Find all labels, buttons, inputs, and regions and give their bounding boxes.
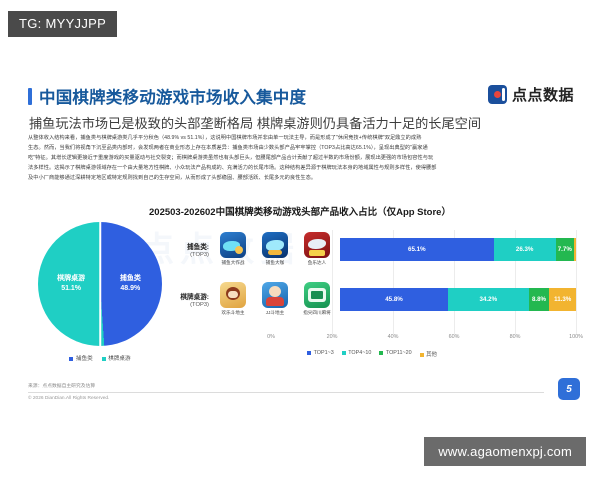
mahjong-game-icon[interactable] <box>304 282 330 308</box>
chart-legend: TOP1~3TOP4~10TOP11~20其他 <box>168 350 576 358</box>
app-icon-group-board: 欢乐斗地主 JJ斗地主 指尖四川麻将 <box>214 282 340 316</box>
gridline <box>576 230 577 334</box>
stacked-bar-board[interactable]: 45.8%34.2%8.8%11.3% <box>340 288 576 311</box>
app-cell[interactable]: 鱼乐达人 <box>300 232 334 266</box>
header-title-row: 中国棋牌类移动游戏市场收入集中度 <box>28 84 481 108</box>
bar-segment[interactable]: 45.8% <box>340 288 448 311</box>
source-note: 来源：点点数据自主研究及估算 <box>28 382 95 389</box>
legend-swatch-icon <box>69 357 73 361</box>
slide-canvas: TG: MYYJJPP 中国棋牌类移动游戏市场收入集中度 捕鱼玩法市场已是极致的… <box>0 0 600 480</box>
row-label-sub: (TOP3) <box>168 302 209 308</box>
fish-game-icon-1[interactable] <box>220 232 246 258</box>
slide-header: 中国棋牌类移动游戏市场收入集中度 捕鱼玩法市场已是极致的头部垄断格局 棋牌桌游则… <box>28 84 481 132</box>
bar-row: 棋牌桌游: (TOP3) 欢乐斗地主 JJ斗地主 指尖四川麻将 <box>168 274 576 324</box>
axis-tick-label: 60% <box>449 334 460 340</box>
pie-legend-label: 棋牌桌游 <box>108 356 130 362</box>
legend-item[interactable]: TOP1~3 <box>307 350 334 358</box>
app-name: 鱼乐达人 <box>300 260 334 266</box>
bar-segment[interactable]: 8.8% <box>529 288 550 311</box>
axis-tick-label: 40% <box>388 334 399 340</box>
pie-legend-item: 棋牌桌游 <box>102 354 131 362</box>
diandian-logo-icon <box>488 85 507 104</box>
row-label-board: 棋牌桌游: (TOP3) <box>168 291 214 308</box>
bar-row: 捕鱼类: (TOP3) 捕鱼大作战 捕鱼大咖 鱼乐达人 <box>168 224 576 274</box>
x-axis-ticks: 0%20%40%60%80%100% <box>271 334 576 348</box>
page-title: 中国棋牌类移动游戏市场收入集中度 <box>39 84 306 108</box>
app-name: 捕鱼大作战 <box>216 260 250 266</box>
axis-tick-label: 0% <box>267 334 275 340</box>
legend-label: TOP11~20 <box>386 350 412 356</box>
paragraph-line-5: 及中小厂商能够通过深耕特定地区或特定规则找到自己的生存空间，从而形成了头部稳固、… <box>28 174 572 183</box>
legend-item[interactable]: TOP4~10 <box>342 350 372 358</box>
legend-label: TOP4~10 <box>348 350 371 356</box>
brand-name: 点点数据 <box>512 84 574 105</box>
legend-swatch-icon <box>342 351 346 355</box>
x-axis: 0%20%40%60%80%100% <box>168 334 576 348</box>
tg-watermark-badge: TG: MYYJJPP <box>8 11 117 37</box>
legend-item[interactable]: TOP11~20 <box>379 350 411 358</box>
pie-legend-label: 捕鱼类 <box>76 356 93 362</box>
legend-swatch-icon <box>420 353 424 357</box>
paragraph-line-1: 从整体收入结构来看，捕鱼类与棋牌桌游类几乎平分秋色（48.9% vs 51.1%… <box>28 134 572 143</box>
body-paragraph: 从整体收入结构来看，捕鱼类与棋牌桌游类几乎平分秋色（48.9% vs 51.1%… <box>28 134 572 184</box>
app-cell[interactable]: JJ斗地主 <box>258 282 292 316</box>
row-label-fish: 捕鱼类: (TOP3) <box>168 241 214 258</box>
app-name: 指尖四川麻将 <box>300 310 334 316</box>
bar-segment[interactable]: 26.3% <box>494 238 556 261</box>
legend-item[interactable]: 其他 <box>420 350 437 358</box>
paragraph-line-3: 吃"特征。其增长逻辑更接近于重度游戏的买量驱动与社交裂变；而棋牌桌游类虽然也有头… <box>28 154 572 163</box>
landlord-game-icon-2[interactable] <box>262 282 288 308</box>
footer-divider <box>28 392 544 393</box>
legend-label: TOP1~3 <box>314 350 334 356</box>
chart-title: 202503-202602中国棋牌类移动游戏头部产品收入占比（仅App Stor… <box>20 204 580 218</box>
brand-logo: 点点数据 <box>488 84 574 105</box>
page-subtitle: 捕鱼玩法市场已是极致的头部垄断格局 棋牌桌游则仍具备活力十足的长尾空间 <box>29 113 481 132</box>
pie-slice-value-board: 51.1% <box>61 285 81 292</box>
axis-tick-label: 100% <box>569 334 583 340</box>
accent-bar-icon <box>28 88 32 105</box>
legend-label: 其他 <box>426 352 437 358</box>
pie-slice-name-fish: 捕鱼类 <box>120 275 141 282</box>
pie-slice-name-board: 棋牌桌游 <box>57 275 85 282</box>
legend-swatch-icon <box>379 351 383 355</box>
landlord-game-icon-1[interactable] <box>220 282 246 308</box>
row-label-name: 捕鱼类: <box>168 241 209 251</box>
app-cell[interactable]: 捕鱼大咖 <box>258 232 292 266</box>
axis-tick-label: 80% <box>510 334 521 340</box>
fish-game-icon-2[interactable] <box>262 232 288 258</box>
app-cell[interactable]: 欢乐斗地主 <box>216 282 250 316</box>
page-number-badge: 5 <box>558 378 580 400</box>
pie-slice-label-board: 棋牌桌游 51.1% <box>57 274 85 293</box>
app-name: JJ斗地主 <box>258 310 292 316</box>
axis-tick-label: 20% <box>327 334 338 340</box>
row-label-sub: (TOP3) <box>168 252 209 258</box>
pie-legend: 捕鱼类棋牌桌游 <box>26 354 174 362</box>
pie-graphic: 捕鱼类 48.9% 棋牌桌游 51.1% <box>38 222 162 346</box>
bar-segment[interactable]: 7.7% <box>556 238 574 261</box>
app-cell[interactable]: 捕鱼大作战 <box>216 232 250 266</box>
fish-game-icon-3[interactable] <box>304 232 330 258</box>
bar-segment[interactable] <box>574 238 576 261</box>
stacked-bar-chart: 捕鱼类: (TOP3) 捕鱼大作战 捕鱼大咖 鱼乐达人 <box>168 224 576 324</box>
pie-slice-label-fish: 捕鱼类 48.9% <box>120 274 141 293</box>
app-name: 欢乐斗地主 <box>216 310 250 316</box>
legend-swatch-icon <box>102 357 106 361</box>
app-cell[interactable]: 指尖四川麻将 <box>300 282 334 316</box>
url-watermark-badge: www.agaomenxpj.com <box>424 437 586 466</box>
legend-swatch-icon <box>307 351 311 355</box>
pie-chart: 捕鱼类 48.9% 棋牌桌游 51.1% 捕鱼类棋牌桌游 <box>26 222 174 362</box>
bar-segment[interactable]: 65.1% <box>340 238 494 261</box>
pie-slice-value-fish: 48.9% <box>120 285 140 292</box>
paragraph-line-2: 生态。然而，当我们将视角下沉至品类内部时，会发现两者在商业形态上存在本质差异：捕… <box>28 144 572 153</box>
app-name: 捕鱼大咖 <box>258 260 292 266</box>
pie-legend-item: 捕鱼类 <box>69 354 92 362</box>
presentation-slide: 中国棋牌类移动游戏市场收入集中度 捕鱼玩法市场已是极致的头部垄断格局 棋牌桌游则… <box>20 62 580 414</box>
copyright-note: © 2026 DianDian.All Rights Reserved. <box>28 396 109 401</box>
bar-segment[interactable]: 11.3% <box>549 288 576 311</box>
stacked-bar-fish[interactable]: 65.1%26.3%7.7% <box>340 238 576 261</box>
bar-segment[interactable]: 34.2% <box>448 288 529 311</box>
row-label-name: 棋牌桌游: <box>168 291 209 301</box>
app-icon-group-fish: 捕鱼大作战 捕鱼大咖 鱼乐达人 <box>214 232 340 266</box>
paragraph-line-4: 法多样性。这揭示了棋牌桌游领域存在一个由大量地方性棋牌、小众玩法产品构成的、充满… <box>28 164 572 173</box>
